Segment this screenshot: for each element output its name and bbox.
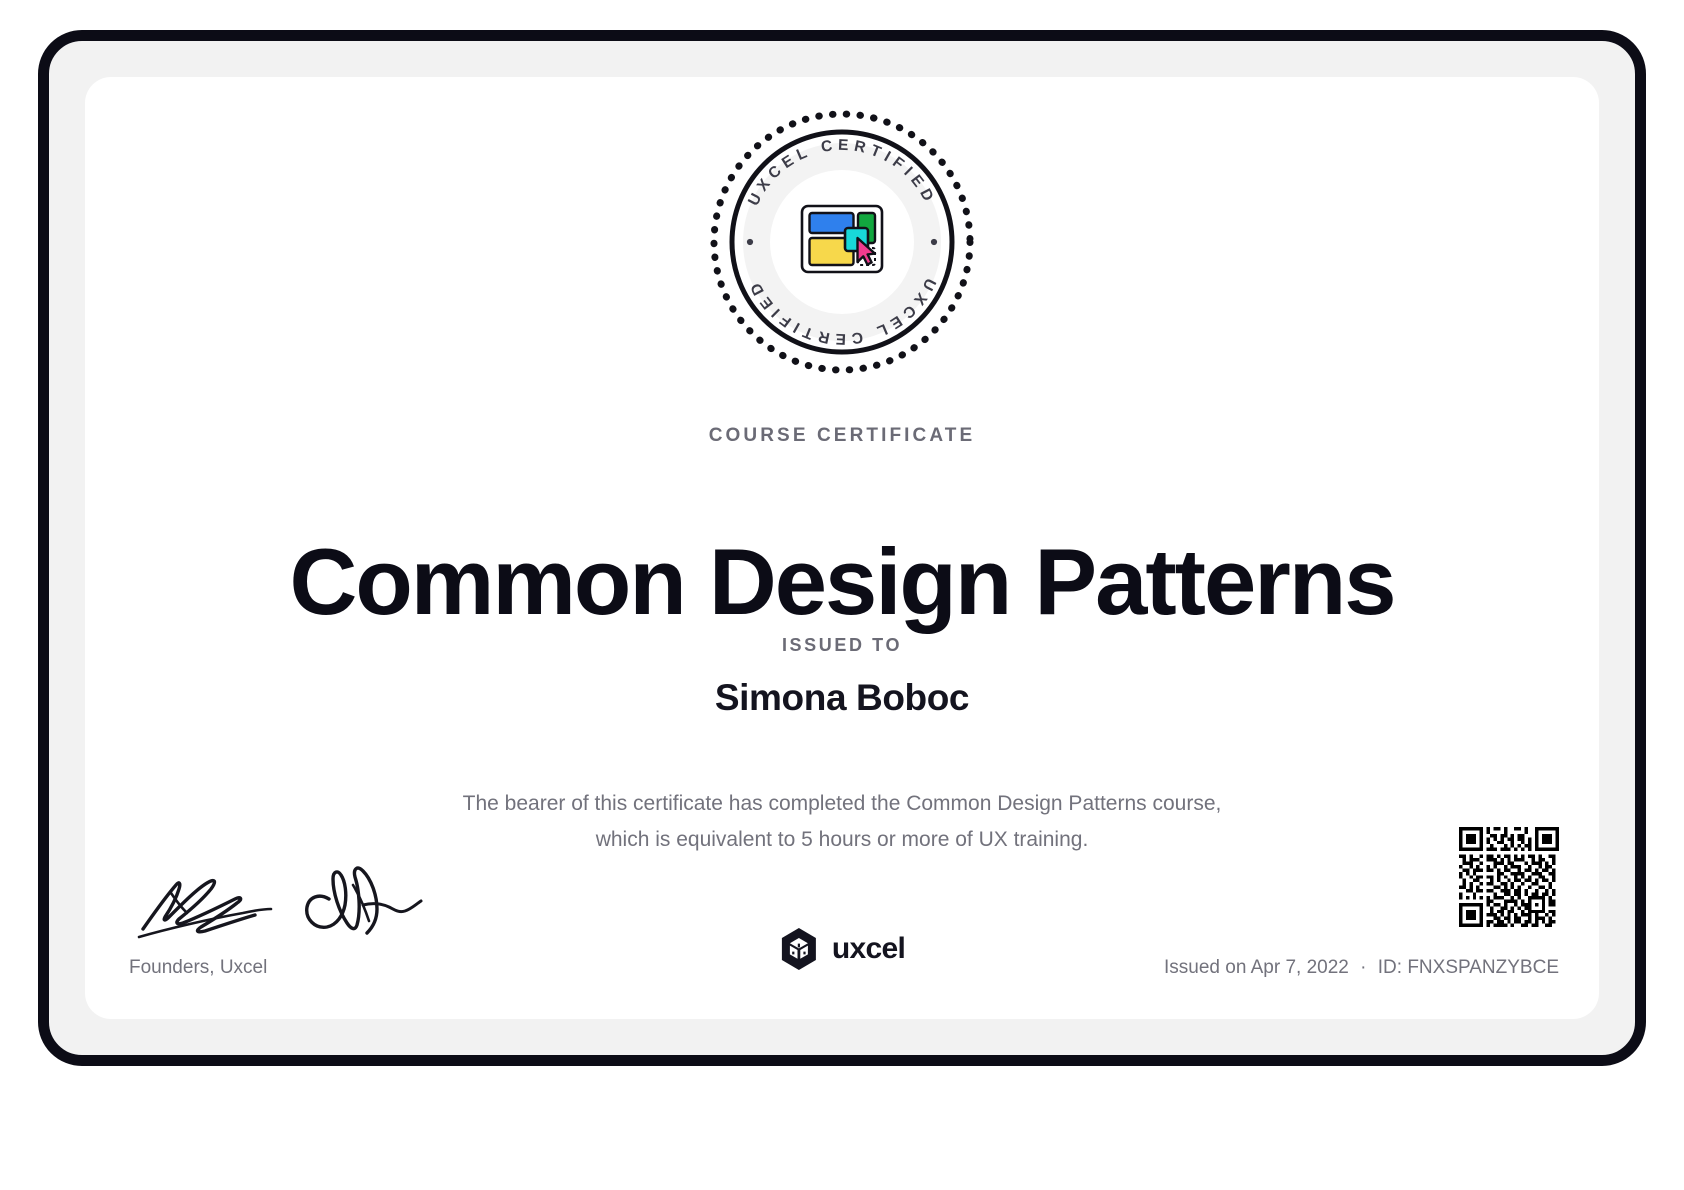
signature-two-icon	[295, 859, 425, 943]
certificate-panel: UXCEL CERTIFIED UXCEL CERTIFIED	[85, 77, 1599, 1019]
issued-to-label: ISSUED TO	[85, 635, 1599, 656]
wireframe-layout-icon	[802, 206, 882, 272]
recipient-name: Simona Boboc	[85, 677, 1599, 719]
eyebrow-label: COURSE CERTIFICATE	[85, 425, 1599, 447]
signatures	[125, 857, 485, 943]
issue-metadata: Issued on Apr 7, 2022 · ID: FNXSPANZYBCE	[1164, 957, 1559, 979]
certificate-id: ID: FNXSPANZYBCE	[1378, 957, 1559, 978]
certificate-title: Common Design Patterns	[85, 532, 1599, 632]
issue-date: Issued on Apr 7, 2022	[1164, 957, 1349, 978]
signature-block: Founders, Uxcel	[125, 857, 485, 979]
certificate-frame: UXCEL CERTIFIED UXCEL CERTIFIED	[38, 30, 1646, 1066]
brand-logo: uxcel	[779, 927, 905, 971]
certificate-description: The bearer of this certificate has compl…	[462, 786, 1222, 858]
certification-seal: UXCEL CERTIFIED UXCEL CERTIFIED	[707, 107, 977, 377]
signature-one-icon	[131, 863, 291, 943]
brand-name: uxcel	[832, 932, 905, 966]
signature-role-label: Founders, Uxcel	[125, 957, 485, 979]
qr-code[interactable]	[1459, 827, 1559, 927]
uxcel-hexagon-icon	[779, 927, 819, 971]
verification-block: Issued on Apr 7, 2022 · ID: FNXSPANZYBCE	[1164, 827, 1559, 979]
meta-separator: ·	[1354, 957, 1372, 978]
